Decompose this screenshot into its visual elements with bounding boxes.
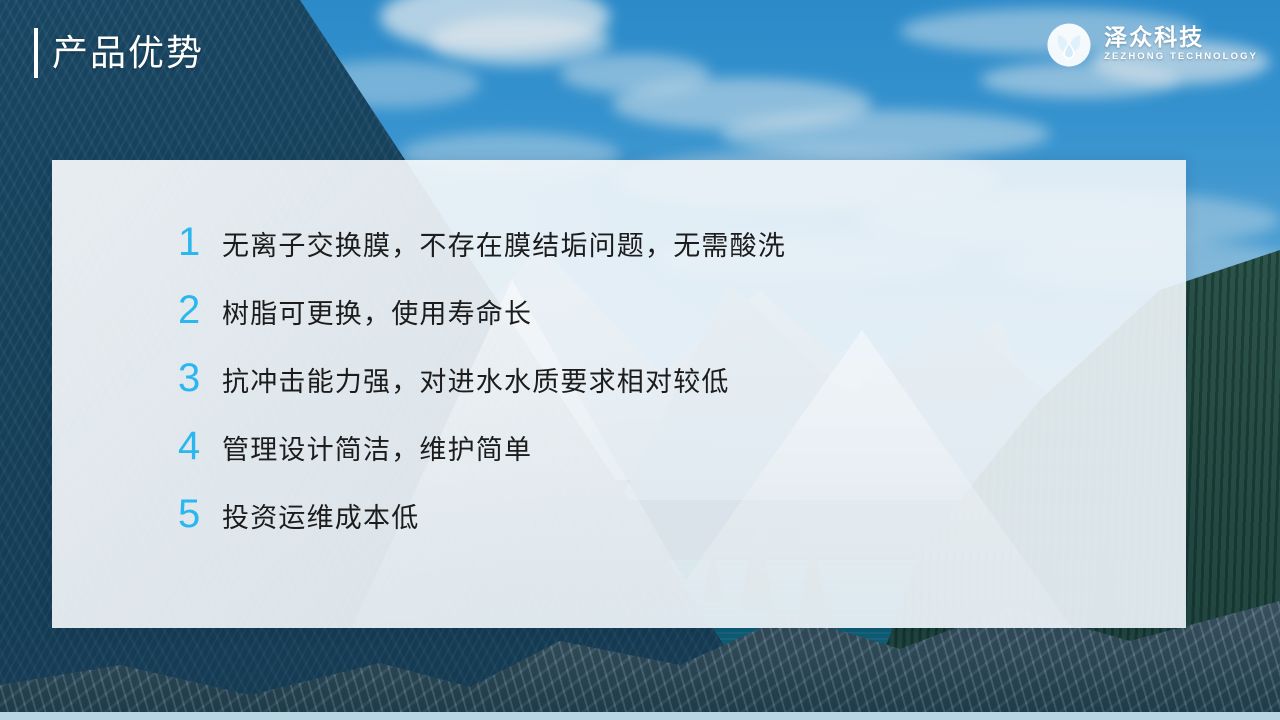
zezhong-water-drop-logo-icon xyxy=(1046,22,1092,68)
slide-root: 产品优势 泽众科技 ZEZHONG TECHNOLOGY 1 xyxy=(0,0,1280,720)
list-item: 5 投资运维成本低 xyxy=(178,494,1186,562)
brand-name-cn: 泽众科技 xyxy=(1104,25,1204,49)
list-item-label: 树脂可更换，使用寿命长 xyxy=(222,301,532,328)
bottom-accent-strip xyxy=(0,712,1280,720)
list-item-label: 无离子交换膜，不存在膜结垢问题，无需酸洗 xyxy=(222,233,786,260)
content-panel: 1 无离子交换膜，不存在膜结垢问题，无需酸洗 2 树脂可更换，使用寿命长 3 抗… xyxy=(52,160,1186,628)
page-title-label: 产品优势 xyxy=(52,35,204,71)
page-title: 产品优势 xyxy=(34,28,204,78)
title-accent-bar xyxy=(34,28,38,78)
list-item: 1 无离子交换膜，不存在膜结垢问题，无需酸洗 xyxy=(178,222,1186,290)
list-item-label: 投资运维成本低 xyxy=(222,505,419,532)
brand-name-en: ZEZHONG TECHNOLOGY xyxy=(1104,49,1258,64)
brand-logo-text: 泽众科技 ZEZHONG TECHNOLOGY xyxy=(1104,25,1258,64)
list-item-number: 1 xyxy=(178,222,208,262)
list-item: 3 抗冲击能力强，对进水水质要求相对较低 xyxy=(178,358,1186,426)
advantages-list: 1 无离子交换膜，不存在膜结垢问题，无需酸洗 2 树脂可更换，使用寿命长 3 抗… xyxy=(52,160,1186,628)
list-item: 2 树脂可更换，使用寿命长 xyxy=(178,290,1186,358)
slide-header: 产品优势 泽众科技 ZEZHONG TECHNOLOGY xyxy=(0,0,1280,120)
list-item-number: 2 xyxy=(178,290,208,330)
list-item-number: 3 xyxy=(178,358,208,398)
list-item: 4 管理设计简洁，维护简单 xyxy=(178,426,1186,494)
list-item-label: 抗冲击能力强，对进水水质要求相对较低 xyxy=(222,369,730,396)
list-item-number: 4 xyxy=(178,426,208,466)
list-item-label: 管理设计简洁，维护简单 xyxy=(222,437,532,464)
brand-logo: 泽众科技 ZEZHONG TECHNOLOGY xyxy=(1046,22,1258,68)
list-item-number: 5 xyxy=(178,494,208,534)
